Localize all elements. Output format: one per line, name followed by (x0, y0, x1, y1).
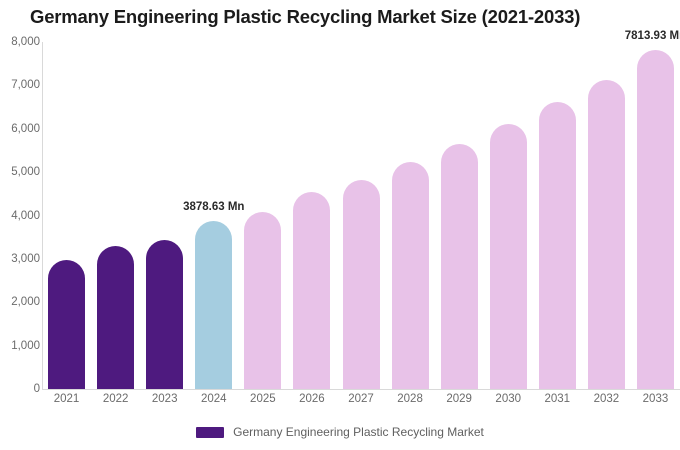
legend-swatch-icon (196, 427, 224, 438)
x-axis-tick-label: 2033 (643, 393, 669, 405)
bar-value-label: 7813.93 Mn (625, 30, 680, 42)
y-axis: 01,0002,0003,0004,0005,0006,0007,0008,00… (0, 0, 40, 450)
y-axis-tick-label: 3,000 (0, 253, 40, 265)
bar-2028[interactable] (392, 162, 429, 389)
bar-item[interactable] (490, 124, 527, 389)
x-axis-tick-label: 2031 (545, 393, 571, 405)
bar-2029[interactable] (441, 144, 478, 389)
x-axis-tick-label: 2027 (348, 393, 374, 405)
y-axis-tick-label: 2,000 (0, 296, 40, 308)
bar-item[interactable] (343, 180, 380, 389)
bar-2032[interactable] (588, 80, 625, 389)
y-axis-tick-label: 5,000 (0, 166, 40, 178)
bar-2021[interactable] (48, 260, 85, 389)
bar-2030[interactable] (490, 124, 527, 389)
bar-2031[interactable] (539, 102, 576, 389)
y-axis-tick-label: 6,000 (0, 123, 40, 135)
y-axis-tick-label: 1,000 (0, 340, 40, 352)
bar-item[interactable] (637, 50, 674, 389)
x-axis: 2021202220232024202520262027202820292030… (42, 393, 680, 415)
legend-item[interactable]: Germany Engineering Plastic Recycling Ma… (196, 425, 484, 439)
x-axis-tick-label: 2024 (201, 393, 227, 405)
bar-2026[interactable] (293, 192, 330, 389)
bar-item[interactable] (146, 240, 183, 389)
chart-container: Germany Engineering Plastic Recycling Ma… (0, 0, 680, 450)
x-axis-tick-label: 2032 (594, 393, 620, 405)
chart-legend: Germany Engineering Plastic Recycling Ma… (0, 425, 680, 439)
bar-2025[interactable] (244, 212, 281, 389)
bar-2023[interactable] (146, 240, 183, 389)
x-axis-tick-label: 2029 (446, 393, 472, 405)
legend-label: Germany Engineering Plastic Recycling Ma… (233, 425, 484, 439)
bar-item[interactable] (392, 162, 429, 389)
bar-item[interactable] (244, 212, 281, 389)
x-axis-tick-label: 2023 (152, 393, 178, 405)
y-axis-tick-label: 4,000 (0, 210, 40, 222)
x-axis-tick-label: 2021 (54, 393, 80, 405)
y-axis-tick-label: 8,000 (0, 36, 40, 48)
bar-2024[interactable] (195, 221, 232, 389)
bar-item[interactable] (441, 144, 478, 389)
bar-2022[interactable] (97, 246, 134, 389)
x-axis-tick-label: 2025 (250, 393, 276, 405)
bar-item[interactable] (293, 192, 330, 389)
bar-value-label: 3878.63 Mn (183, 201, 244, 213)
bar-item[interactable] (48, 260, 85, 389)
bar-item[interactable] (588, 80, 625, 389)
x-axis-tick-label: 2026 (299, 393, 325, 405)
bar-item[interactable] (539, 102, 576, 389)
x-axis-line (42, 389, 680, 390)
x-axis-tick-label: 2022 (103, 393, 129, 405)
bar-2027[interactable] (343, 180, 380, 389)
bar-2033[interactable] (637, 50, 674, 389)
bar-item[interactable] (97, 246, 134, 389)
y-axis-tick-label: 7,000 (0, 79, 40, 91)
x-axis-tick-label: 2028 (397, 393, 423, 405)
bar-series: 3878.63 Mn7813.93 Mn (42, 0, 680, 389)
bar-item[interactable] (195, 221, 232, 389)
y-axis-tick-label: 0 (0, 383, 40, 395)
x-axis-tick-label: 2030 (495, 393, 521, 405)
